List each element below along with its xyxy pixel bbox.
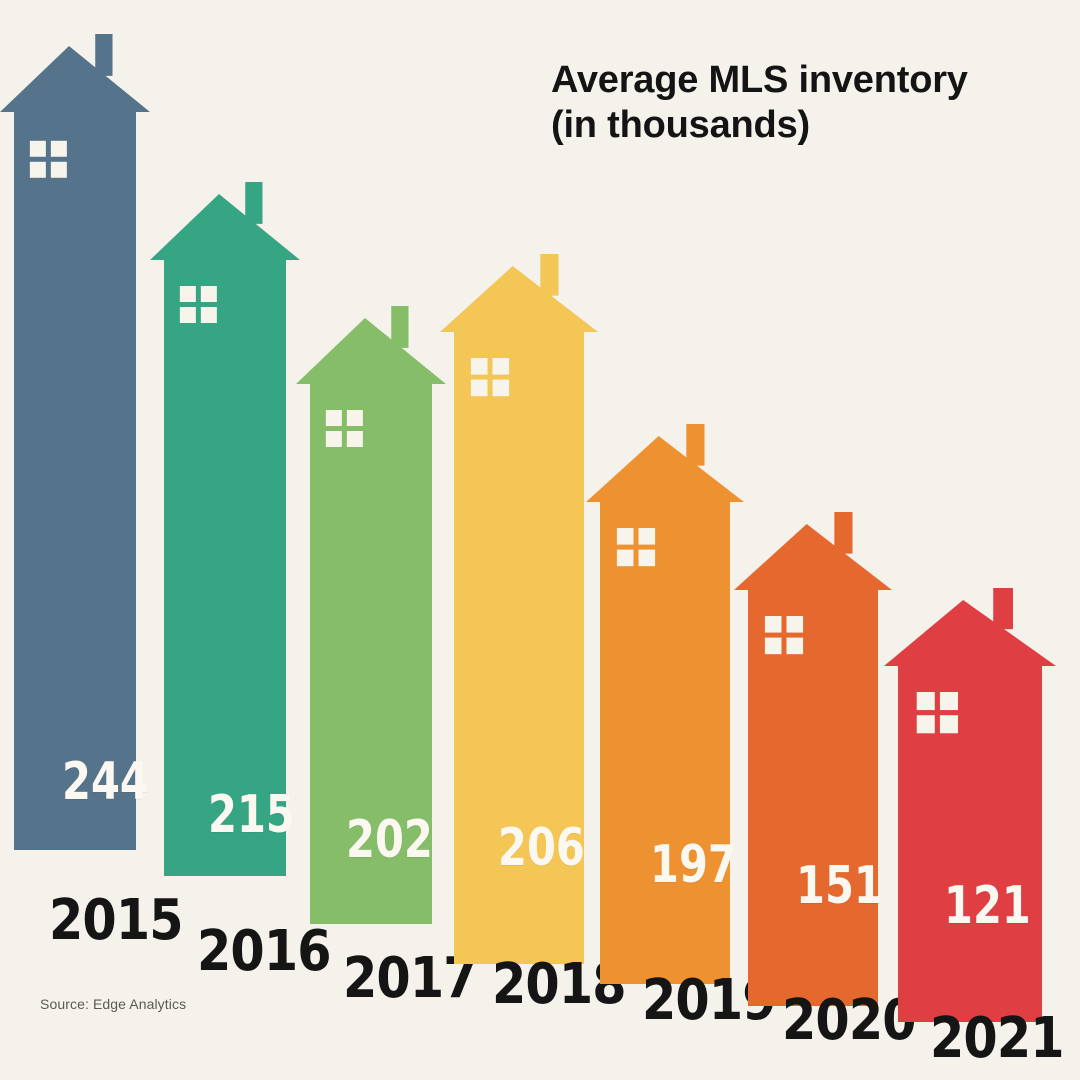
bar-value-2021: 121 bbox=[944, 876, 1031, 936]
window-pane-2 bbox=[347, 410, 363, 426]
house-bar-chart: 2442015215201620220172062018197201915120… bbox=[0, 0, 1080, 1080]
window-pane-4 bbox=[201, 307, 217, 323]
house-bar-2016 bbox=[150, 176, 300, 876]
window-pane-4 bbox=[492, 380, 509, 397]
bar-value-2015: 244 bbox=[62, 752, 149, 812]
house-body bbox=[734, 524, 892, 1006]
window-pane-2 bbox=[786, 616, 803, 633]
house-body bbox=[150, 194, 300, 876]
bar-value-2019: 197 bbox=[650, 835, 737, 895]
window-pane-4 bbox=[347, 431, 363, 447]
window-pane-2 bbox=[492, 358, 509, 375]
bar-year-label-2016: 2016 bbox=[197, 919, 331, 984]
window-pane-1 bbox=[765, 616, 782, 633]
bar-year-label-2015: 2015 bbox=[49, 888, 183, 953]
window-pane-4 bbox=[786, 638, 803, 655]
window-pane-3 bbox=[765, 638, 782, 655]
window-pane-2 bbox=[201, 286, 217, 302]
source-attribution: Source: Edge Analytics bbox=[40, 996, 186, 1012]
window-pane-3 bbox=[917, 715, 935, 733]
window-pane-3 bbox=[180, 307, 196, 323]
window-pane-3 bbox=[326, 431, 342, 447]
house-bar-2021 bbox=[884, 582, 1056, 1022]
window-pane-1 bbox=[917, 692, 935, 710]
window-pane-2 bbox=[638, 528, 655, 545]
bar-year-label-2021: 2021 bbox=[930, 1006, 1064, 1071]
chimney bbox=[993, 588, 1013, 629]
house-body bbox=[0, 46, 150, 850]
window-pane-1 bbox=[30, 141, 46, 157]
house-body bbox=[586, 436, 744, 984]
chimney bbox=[540, 254, 558, 296]
infographic-canvas: 2442015215201620220172062018197201915120… bbox=[0, 0, 1080, 1080]
window-pane-2 bbox=[940, 692, 958, 710]
window-pane-4 bbox=[51, 162, 67, 178]
window-pane-1 bbox=[617, 528, 634, 545]
bar-value-2018: 206 bbox=[498, 818, 585, 878]
house-bar-2015 bbox=[0, 28, 150, 850]
window-pane-4 bbox=[940, 715, 958, 733]
window-pane-3 bbox=[617, 550, 634, 567]
bar-value-2017: 202 bbox=[346, 810, 433, 870]
window-pane-4 bbox=[638, 550, 655, 567]
window-pane-1 bbox=[471, 358, 488, 375]
window-pane-3 bbox=[471, 380, 488, 397]
window-pane-1 bbox=[326, 410, 342, 426]
chimney bbox=[686, 424, 704, 466]
house-body bbox=[884, 600, 1056, 1022]
bar-value-2020: 151 bbox=[796, 856, 883, 916]
house-bar-2019 bbox=[586, 418, 744, 984]
window-pane-1 bbox=[180, 286, 196, 302]
house-bar-2020 bbox=[734, 506, 892, 1006]
window-pane-2 bbox=[51, 141, 67, 157]
chart-title: Average MLS inventory (in thousands) bbox=[551, 58, 1051, 148]
window-pane-3 bbox=[30, 162, 46, 178]
chimney bbox=[834, 512, 852, 554]
bar-value-2016: 215 bbox=[208, 785, 295, 845]
